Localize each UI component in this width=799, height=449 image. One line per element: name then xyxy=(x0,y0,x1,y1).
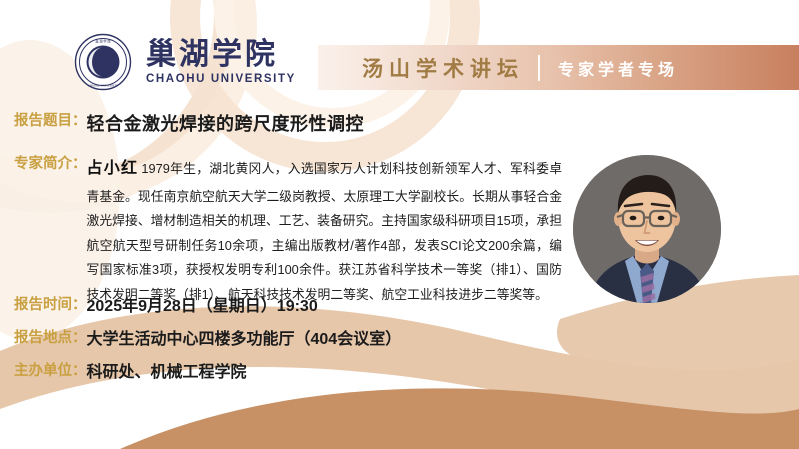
svg-text:CHAOHU UNIVERSITY: CHAOHU UNIVERSITY xyxy=(88,83,119,87)
label-lecture-time: 报告时间： xyxy=(14,295,87,317)
svg-text:1977: 1977 xyxy=(100,62,106,65)
value-host-organization: 科研处、机械工程学院 xyxy=(87,361,247,385)
banner-series-subtitle: 专家学者专场 xyxy=(558,56,678,80)
field-lecture-title: 报告题目： 轻合金激光焊接的跨尺度形性调控 xyxy=(14,111,364,138)
value-lecture-place: 大学生活动中心四楼多功能厅（404会议室） xyxy=(87,328,402,352)
speaker-bio-body: 占小红1979年生，湖北黄冈人，入选国家万人计划科技创新领军人才、军科委卓青基金… xyxy=(87,154,563,308)
lecture-poster: 巢 湖 学 院 CHAOHU UNIVERSITY 1977 巢湖学院 CHAO… xyxy=(0,0,799,449)
series-banner: 汤山学术讲坛 专家学者专场 xyxy=(318,45,799,90)
field-speaker-bio: 专家简介： 占小红1979年生，湖北黄冈人，入选国家万人计划科技创新领军人才、军… xyxy=(14,154,562,308)
label-host-organization: 主办单位： xyxy=(14,361,87,383)
label-speaker-bio: 专家简介： xyxy=(14,154,87,176)
field-lecture-time: 报告时间： 2025年9月28日（星期日）19:30 xyxy=(14,295,318,319)
field-lecture-place: 报告地点： 大学生活动中心四楼多功能厅（404会议室） xyxy=(14,328,401,352)
value-lecture-time: 2025年9月28日（星期日）19:30 xyxy=(87,295,318,319)
svg-text:巢 湖 学 院: 巢 湖 学 院 xyxy=(95,39,111,44)
brand-name-cn: 巢湖学院 xyxy=(146,39,296,71)
field-host-organization: 主办单位： 科研处、机械工程学院 xyxy=(14,361,247,385)
brand-wordmark: 巢湖学院 CHAOHU UNIVERSITY xyxy=(146,39,296,86)
label-lecture-place: 报告地点： xyxy=(14,328,87,350)
banner-divider xyxy=(538,55,540,81)
chaohu-university-seal-icon: 巢 湖 学 院 CHAOHU UNIVERSITY 1977 xyxy=(74,33,132,91)
label-lecture-title: 报告题目： xyxy=(14,111,87,133)
value-lecture-title: 轻合金激光焊接的跨尺度形性调控 xyxy=(87,111,365,138)
banner-series-title: 汤山学术讲坛 xyxy=(362,53,524,83)
speaker-name: 占小红 xyxy=(87,160,139,177)
speaker-bio-text: 1979年生，湖北黄冈人，入选国家万人计划科技创新领军人才、军科委卓青基金。现任… xyxy=(87,161,563,302)
university-logo-block: 巢 湖 学 院 CHAOHU UNIVERSITY 1977 巢湖学院 CHAO… xyxy=(74,33,296,91)
brand-name-en: CHAOHU UNIVERSITY xyxy=(146,73,296,85)
speaker-portrait-photo xyxy=(573,155,721,303)
